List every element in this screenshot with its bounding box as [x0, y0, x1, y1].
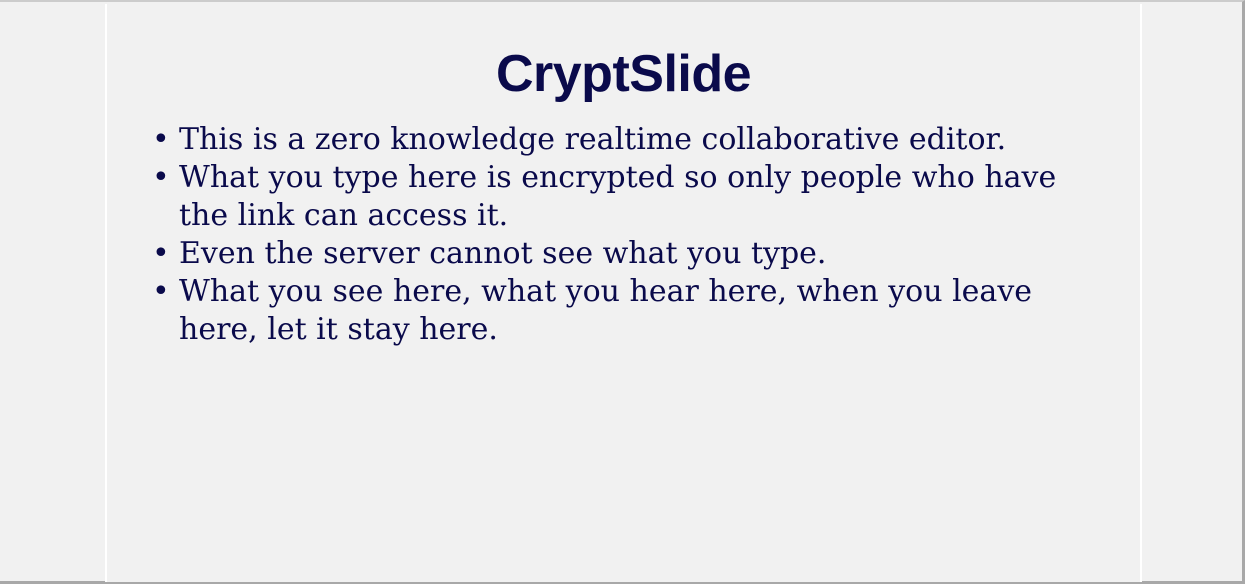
slide-bullet-list: • This is a zero knowledge realtime coll… — [107, 121, 1142, 349]
list-item[interactable]: • What you type here is encrypted so onl… — [107, 159, 1142, 235]
slide-canvas[interactable]: CryptSlide • This is a zero knowledge re… — [105, 4, 1142, 582]
bullet-icon: • — [152, 235, 164, 273]
app-frame: CryptSlide • This is a zero knowledge re… — [0, 0, 1245, 584]
bullet-icon: • — [152, 121, 164, 159]
bullet-icon: • — [152, 273, 164, 311]
list-item[interactable]: • What you see here, what you hear here,… — [107, 273, 1142, 349]
list-item-label: What you type here is encrypted so only … — [179, 159, 1084, 235]
list-item[interactable]: • Even the server cannot see what you ty… — [107, 235, 1142, 273]
list-item-label: What you see here, what you hear here, w… — [179, 273, 1084, 349]
bullet-icon: • — [152, 159, 164, 197]
list-item[interactable]: • This is a zero knowledge realtime coll… — [107, 121, 1142, 159]
list-item-label: Even the server cannot see what you type… — [179, 235, 1084, 273]
page-title: CryptSlide — [107, 48, 1140, 100]
list-item-label: This is a zero knowledge realtime collab… — [179, 121, 1084, 159]
